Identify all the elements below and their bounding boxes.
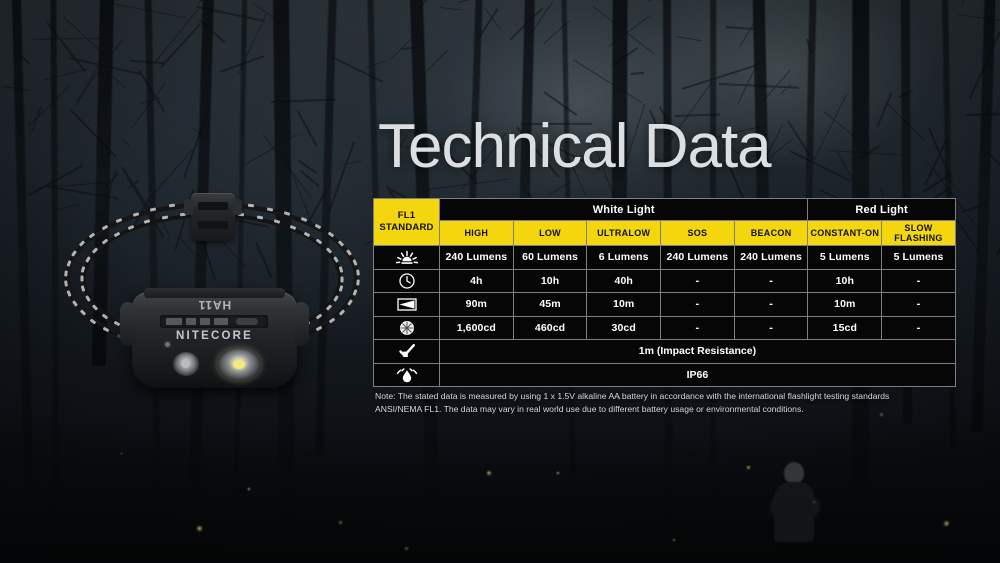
firefly-light <box>943 520 950 527</box>
group-header-red-light: Red Light <box>808 199 955 221</box>
display-segment <box>214 318 228 325</box>
row-metric-icon-cell <box>374 269 440 293</box>
cell-lumens-beacon: 240 Lumens <box>734 246 808 270</box>
table-row: 4h 10h 40h - - 10h - <box>374 269 956 293</box>
mode-header-slow-flashing: SLOW FLASHING <box>882 221 956 246</box>
cell-runtime-high: 4h <box>440 269 514 293</box>
buckle-wing-left <box>184 199 193 215</box>
firefly-light <box>672 538 676 542</box>
firefly-light <box>556 471 560 475</box>
cell-impact-resistance-value: 1m (Impact Resistance) <box>440 340 956 364</box>
cell-lumens-low: 60 Lumens <box>513 246 587 270</box>
cell-lumens-ultralow: 6 Lumens <box>587 246 661 270</box>
mode-header-constant-on: CONSTANT-ON <box>808 221 882 246</box>
lumens-icon <box>394 249 420 266</box>
cell-intensity-low: 460cd <box>513 316 587 340</box>
row-metric-icon-cell <box>374 246 440 270</box>
product-model-label: HA11 <box>132 298 297 312</box>
table-row: 90m 45m 10m - - 10m - <box>374 293 956 317</box>
table-row: 1,600cd 460cd 30cd - - 15cd - <box>374 316 956 340</box>
firefly-light <box>746 465 751 470</box>
cell-intensity-constant-on: 15cd <box>808 316 882 340</box>
fl1-label-line1: FL1 <box>374 210 439 222</box>
strap-buckle <box>191 193 235 241</box>
hiker-head <box>784 462 804 484</box>
row-metric-icon-cell <box>374 340 440 364</box>
table-header-mode-row: HIGH LOW ULTRALOW SOS BEACON CONSTANT-ON… <box>374 221 956 246</box>
impact-resistance-icon <box>397 342 417 360</box>
firefly-light <box>486 470 492 476</box>
page-title: Technical Data <box>378 116 771 178</box>
cell-runtime-low: 10h <box>513 269 587 293</box>
technical-data-table-wrapper: FL1 STANDARD White Light Red Light HIGH … <box>373 198 955 387</box>
strap-reflective-dash <box>356 269 360 275</box>
cell-distance-low: 45m <box>513 293 587 317</box>
group-header-white-light: White Light <box>440 199 808 221</box>
fl1-standard-header: FL1 STANDARD <box>374 199 440 246</box>
row-metric-icon-cell <box>374 293 440 317</box>
table-row: 240 Lumens 60 Lumens 6 Lumens 240 Lumens… <box>374 246 956 270</box>
firefly-light <box>247 487 251 491</box>
cell-runtime-beacon: - <box>734 269 808 293</box>
mode-header-ultralow: ULTRALOW <box>587 221 661 246</box>
cell-lumens-sos: 240 Lumens <box>661 246 735 270</box>
fl1-label-line2: STANDARD <box>374 222 439 234</box>
cell-distance-constant-on: 10m <box>808 293 882 317</box>
cell-distance-beacon: - <box>734 293 808 317</box>
firefly-light <box>120 452 123 455</box>
cell-runtime-sos: - <box>661 269 735 293</box>
footnote-text: Note: The stated data is measured by usi… <box>375 390 895 417</box>
peak-beam-intensity-icon <box>398 319 416 337</box>
cell-intensity-slow-flashing: - <box>882 316 956 340</box>
table-row: 1m (Impact Resistance) <box>374 340 956 364</box>
buckle-wing-right <box>233 199 242 215</box>
display-segment <box>166 318 182 325</box>
mode-header-high: HIGH <box>440 221 514 246</box>
page-canvas: HA11 NITECORE Technical Data <box>0 0 1000 563</box>
mode-header-sos: SOS <box>661 221 735 246</box>
cell-distance-sos: - <box>661 293 735 317</box>
table-header-group-row: FL1 STANDARD White Light Red Light <box>374 199 956 221</box>
runtime-clock-icon <box>398 272 416 290</box>
cell-intensity-high: 1,600cd <box>440 316 514 340</box>
cell-runtime-slow-flashing: - <box>882 269 956 293</box>
cell-water-resistance-value: IP66 <box>440 363 956 387</box>
display-segment <box>200 318 210 325</box>
cell-distance-ultralow: 10m <box>587 293 661 317</box>
row-metric-icon-cell <box>374 363 440 387</box>
cell-distance-slow-flashing: - <box>882 293 956 317</box>
cell-intensity-ultralow: 30cd <box>587 316 661 340</box>
mode-header-beacon: BEACON <box>734 221 808 246</box>
water-resistance-icon <box>395 367 419 383</box>
cell-runtime-constant-on: 10h <box>808 269 882 293</box>
headlamp-product-image: HA11 NITECORE <box>58 185 366 390</box>
strap-reflective-dash <box>266 207 273 211</box>
strap-reflective-dash <box>340 276 343 282</box>
headlamp-display-panel <box>160 315 268 328</box>
product-brand-label: NITECORE <box>132 330 297 342</box>
table-body: 240 Lumens 60 Lumens 6 Lumens 240 Lumens… <box>374 246 956 387</box>
display-segment <box>186 318 196 325</box>
cell-intensity-beacon: - <box>734 316 808 340</box>
row-metric-icon-cell <box>374 316 440 340</box>
strap-reflective-dash <box>316 326 323 332</box>
headlamp-body: HA11 NITECORE <box>132 292 297 388</box>
headlamp-top-bar <box>144 288 285 298</box>
bottom-fade-overlay <box>0 413 1000 563</box>
strap-reflective-dash <box>356 280 360 286</box>
technical-data-table: FL1 STANDARD White Light Red Light HIGH … <box>373 198 956 387</box>
hiker-body <box>774 482 814 542</box>
table-row: IP66 <box>374 363 956 387</box>
firefly-light <box>338 520 343 525</box>
cell-runtime-ultralow: 40h <box>587 269 661 293</box>
main-led <box>217 348 261 381</box>
beam-distance-icon <box>396 297 418 312</box>
firefly-light <box>404 546 409 551</box>
strap-reflective-dash <box>353 290 358 297</box>
table-header: FL1 STANDARD White Light Red Light HIGH … <box>374 199 956 246</box>
mode-header-low: LOW <box>513 221 587 246</box>
firefly-light <box>196 525 203 532</box>
cell-intensity-sos: - <box>661 316 735 340</box>
cell-distance-high: 90m <box>440 293 514 317</box>
display-segment <box>236 318 258 325</box>
hiker-silhouette <box>770 462 822 540</box>
cell-lumens-high: 240 Lumens <box>440 246 514 270</box>
cell-lumens-slow-flashing: 5 Lumens <box>882 246 956 270</box>
headlamp-power-button <box>165 342 170 347</box>
cell-lumens-constant-on: 5 Lumens <box>808 246 882 270</box>
auxiliary-led <box>173 352 199 376</box>
strap-reflective-dash <box>80 276 83 282</box>
